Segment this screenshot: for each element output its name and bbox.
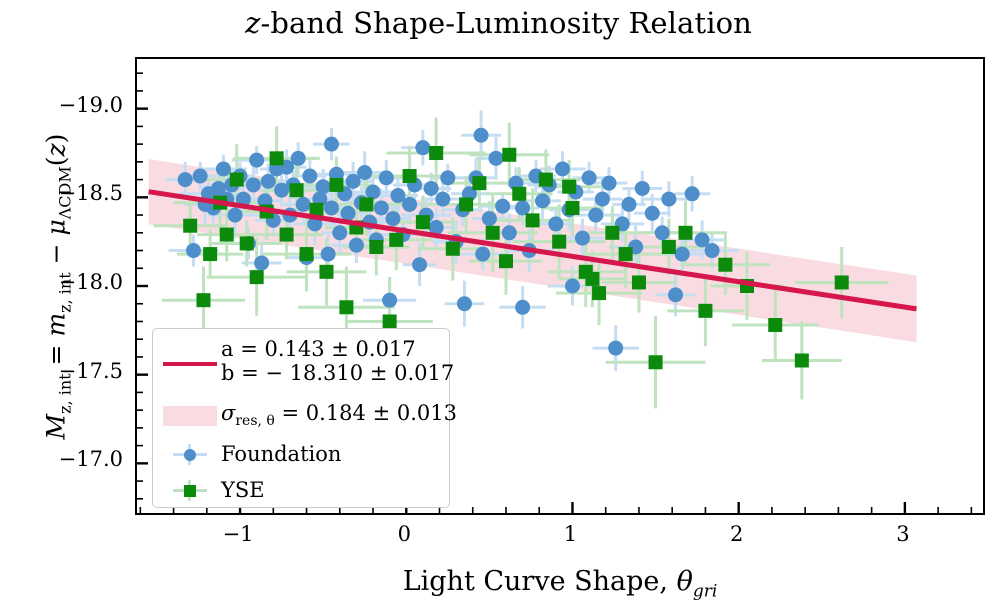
legend-item-fit: a = 0.143 ± 0.017 b = − 18.310 ± 0.017 [159,337,454,385]
chart-title: z-band Shape-Luminosity Relation [0,6,997,40]
yse-square-swatch [184,485,196,497]
legend-band-text: σres, θ = 0.184 ± 0.013 [221,401,457,429]
x-tick-label: 3 [873,522,933,546]
legend-key-yse [159,477,221,503]
sigma-subscript: res, θ [235,413,275,429]
x-tick-label: −1 [208,522,268,546]
y-tick-label: −18.5 [33,181,123,205]
legend-box[interactable]: a = 0.143 ± 0.017 b = − 18.310 ± 0.017 σ… [152,328,450,508]
legend-item-band: σres, θ = 0.184 ± 0.013 [159,401,457,429]
yse-marker-sample [159,477,221,503]
x-axis-label-main: Light Curve Shape, [403,566,677,597]
y-tick-label: −19.0 [33,93,123,117]
x-tick-label: 2 [707,522,767,546]
figure-container: z-band Shape-Luminosity Relation a = 0.1… [0,0,997,616]
fit-line-swatch [163,362,217,366]
x-tick-label: 1 [540,522,600,546]
y-axis-label-text: M [42,414,71,440]
theta-symbol: θ [677,566,693,597]
foundation-circle-swatch [184,449,196,461]
legend-item-foundation: Foundation [159,441,341,467]
legend-key-band [159,402,221,428]
legend-fit-slope: a = 0.143 ± 0.017 [221,337,416,361]
foundation-marker-sample [159,441,221,467]
legend-fit-intercept: b = − 18.310 ± 0.017 [221,361,454,385]
x-tick-label: 0 [374,522,434,546]
legend-item-yse: YSE [159,477,265,503]
legend-key-foundation [159,441,221,467]
sigma-symbol: σ [221,401,235,425]
x-axis-label: Light Curve Shape, θgri [135,566,985,601]
legend-yse-label: YSE [221,478,265,502]
y-tick-label: −17.0 [33,447,123,471]
sigma-value: = 0.184 ± 0.013 [275,401,457,425]
chart-title-italic-prefix: z [245,6,260,40]
y-tick-label: −17.5 [33,359,123,383]
theta-subscript: gri [693,581,717,601]
legend-foundation-label: Foundation [221,442,341,466]
band-swatch [163,406,217,426]
foundation-points [178,128,720,356]
legend-fit-text: a = 0.143 ± 0.017 b = − 18.310 ± 0.017 [221,337,454,385]
y-tick-label: −18.0 [33,270,123,294]
chart-title-rest: -band Shape-Luminosity Relation [260,6,751,40]
legend-key-fit-line [159,351,221,377]
